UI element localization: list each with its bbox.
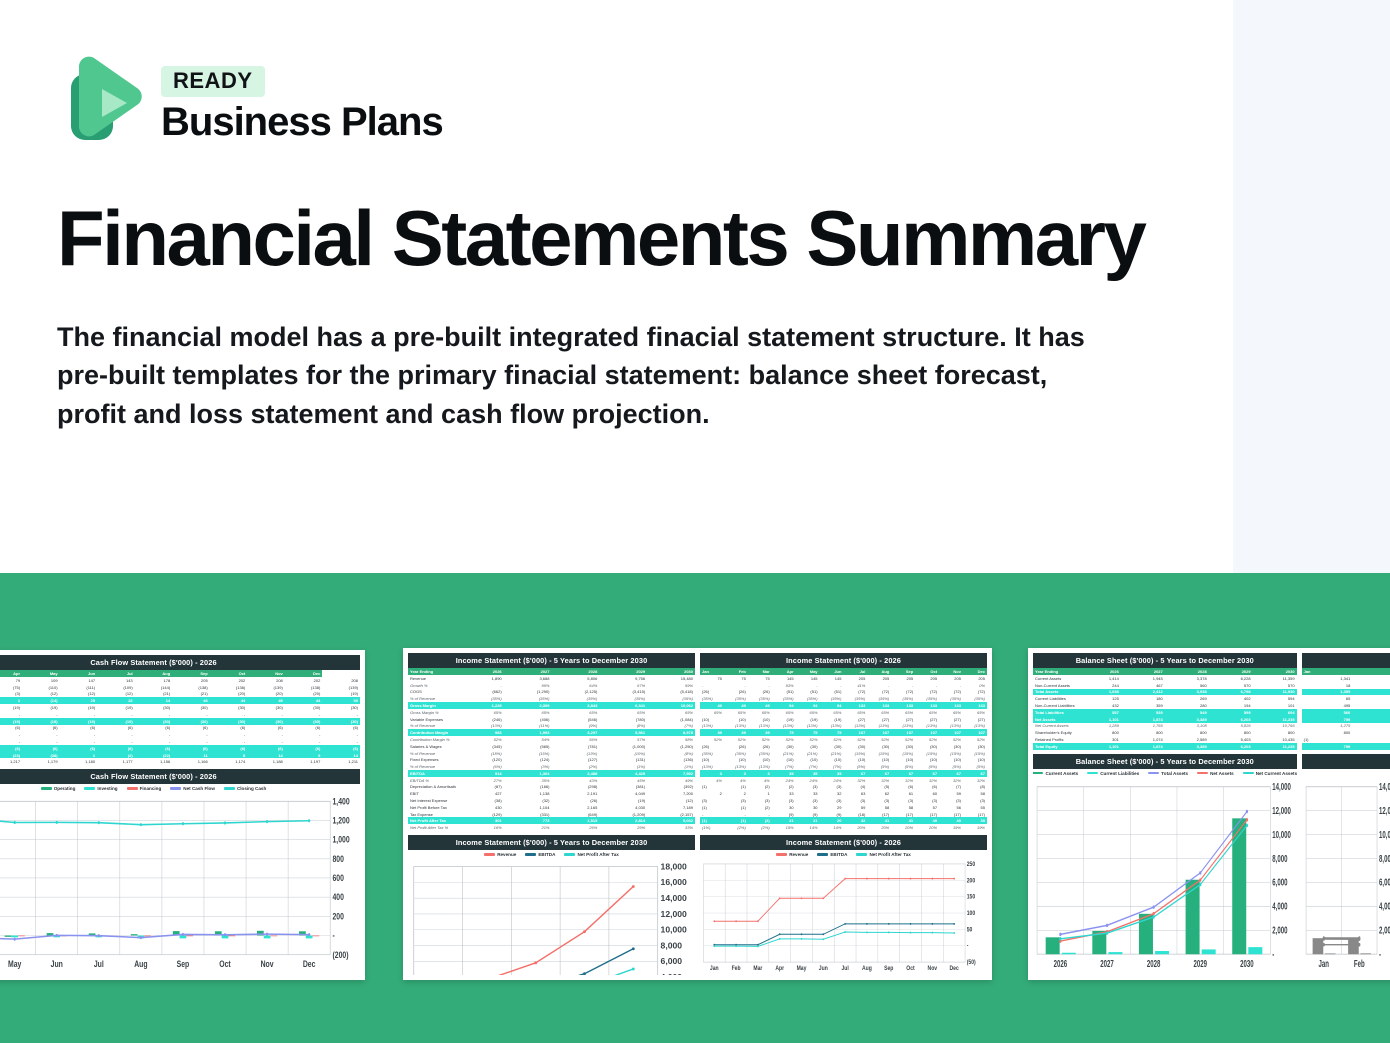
- table-cell: 52%: [820, 736, 844, 743]
- table-cell: (1,084): [647, 716, 695, 723]
- table-row[interactable]: 221333332636261605958: [700, 790, 987, 797]
- table-cell: (3): [748, 797, 772, 804]
- table-row[interactable]: 1,2751,251: [1302, 723, 1390, 730]
- table-cell: Net Interest Expense: [408, 797, 456, 804]
- chart-title: Cash Flow Statement ($'000) - 2026: [0, 769, 360, 784]
- chart-balance-monthly[interactable]: 14,00012,00010,0008,0006,0004,0002,000-J…: [1302, 754, 1390, 975]
- table-cell: (781): [551, 743, 599, 750]
- table-row[interactable]: (10)(10)(10)(19)(19)(19)(27)(27)(27)(27)…: [700, 716, 987, 723]
- table-row[interactable]: Net Profit After Tax %16%21%26%29%33%: [408, 824, 695, 831]
- table-cell: (30): [915, 743, 939, 750]
- table-row[interactable]: Revenue1,8903,6885,8069,75615,480: [408, 675, 695, 682]
- table-row[interactable]: 65%65%65%65%65%65%65%65%65%65%65%65%: [700, 709, 987, 716]
- chart-plot: 14,00012,00010,0008,0006,0004,0002,000-2…: [1033, 777, 1297, 975]
- table-cell: (19): [22, 718, 60, 725]
- chart-plot: 25020015010050-(50)JanFebMarAprMayJunJul…: [700, 858, 987, 975]
- table-cell: (15%): [963, 750, 987, 757]
- chart-income-5yr[interactable]: Income Statement ($'000) - 5 Years to De…: [408, 835, 695, 975]
- table-row[interactable]: Net Profit Before Tax4301,1042,1654,0307…: [408, 804, 695, 811]
- pane-income-5yr: Income Statement ($'000) - 5 Years to De…: [408, 653, 695, 975]
- table-cell: % of Revenue: [408, 695, 456, 702]
- table-row[interactable]: (10)(10)(10)(10)(10)(10)(10)(10)(10)(10)…: [700, 756, 987, 763]
- svg-text:8,000: 8,000: [661, 940, 683, 950]
- table-cell: 32%: [843, 777, 867, 784]
- table-cell: 1,180: [60, 758, 98, 765]
- table-row[interactable]: EBITDA5141,3042,4884,4297,592: [408, 770, 695, 777]
- table-row[interactable]: (1)(1)(2)212120424141404039: [700, 817, 987, 824]
- legend-item: Net Profit After Tax: [564, 852, 618, 857]
- table-row[interactable]: (6)(6)(6)(6)(6)(6)(6)(6)(6)(6): [0, 745, 360, 752]
- table-cell: (6): [247, 745, 285, 752]
- svg-text:Jul: Jul: [94, 959, 104, 969]
- table-cell: -: [210, 731, 248, 738]
- table-cell: -: [0, 711, 22, 718]
- table-row[interactable]: (75)(110)(111)(109)(144)(138)(136)(139)(…: [0, 684, 360, 691]
- chart-legend: OperatingInvestingFinancingNet Cash Flow…: [0, 784, 360, 792]
- table-cell: 75: [820, 729, 844, 736]
- table-cell: 1,874: [1121, 716, 1165, 723]
- table-cell: 694: [1253, 709, 1297, 716]
- table-cell: (10): [820, 756, 844, 763]
- table-cell: Net Assets: [1033, 716, 1077, 723]
- table-cell: 6,798: [1209, 689, 1253, 696]
- table-cell: (5%): [915, 763, 939, 770]
- table-row[interactable]: % of Revenue(35%)(35%)(35%)(35%)(35%): [408, 695, 695, 702]
- table-cell: 35: [772, 770, 796, 777]
- table-cell: (30): [939, 743, 963, 750]
- table-row[interactable]: Salaries & Wages(345)(565)(781)(1,000)(1…: [408, 743, 695, 750]
- table-cell: 94: [820, 702, 844, 709]
- table-cell: 94: [772, 702, 796, 709]
- table-cell: 570: [1209, 682, 1253, 689]
- table-cell: 64%: [551, 682, 599, 689]
- table-row[interactable]: EBIT4271,1382,1914,0497,200: [408, 790, 695, 797]
- table-cell: 14: [247, 752, 285, 759]
- table-row[interactable]: Tax Expense(129)(331)(649)(1,209)(2,157): [408, 811, 695, 818]
- table-cell: -: [891, 682, 915, 689]
- table-cell: 1,174: [210, 758, 248, 765]
- table-cell: (10%): [599, 750, 647, 757]
- table-row[interactable]: 79109147143178205202208202208: [0, 677, 360, 684]
- table-cell: -: [700, 811, 724, 818]
- table-cell: (19): [599, 797, 647, 804]
- table-row[interactable]: Current Liabilities125180269402594: [1033, 695, 1297, 702]
- balance-monthly-table[interactable]: JanFeb1,3411,32318361,3591,3596572495489…: [1302, 668, 1390, 749]
- table-cell: (6): [172, 745, 210, 752]
- legend-item: Operating: [41, 786, 76, 791]
- table-row[interactable]: Gross Margin %65%65%65%65%65%: [408, 709, 695, 716]
- table-cell: (7%): [796, 763, 820, 770]
- column-header: 2026: [1077, 668, 1121, 675]
- table-row[interactable]: (1)(2): [1302, 736, 1390, 743]
- table-row[interactable]: 799798: [1302, 743, 1390, 750]
- table-row[interactable]: Net Current Assets1,2891,7653,1085,82610…: [1033, 723, 1297, 730]
- cashflow-table[interactable]: AprMayJunJulAugSepOctNovDec7910914714317…: [0, 670, 360, 765]
- table-cell: 560: [1165, 682, 1209, 689]
- table-cell: 39: [963, 817, 987, 824]
- table-cell: 65%: [772, 709, 796, 716]
- table-row[interactable]: % of Revenue(13%)(11%)(9%)(8%)(7%): [408, 723, 695, 730]
- table-row[interactable]: 52%52%52%52%52%52%52%52%52%52%52%52%: [700, 736, 987, 743]
- table-cell: -: [285, 711, 323, 718]
- table-row[interactable]: (1%)(2%)(2%)15%14%14%20%20%20%20%19%19%: [700, 824, 987, 831]
- svg-text:4,000: 4,000: [1379, 901, 1390, 912]
- table-cell: 1,188: [247, 758, 285, 765]
- table-cell: 7,200: [647, 790, 695, 797]
- svg-text:Sep: Sep: [177, 959, 190, 969]
- page-description: The financial model has a pre-built inte…: [57, 318, 1087, 433]
- column-header: Feb: [1352, 668, 1390, 675]
- table-row[interactable]: 494949949494133133133133133133: [700, 702, 987, 709]
- svg-text:8,000: 8,000: [1272, 853, 1288, 864]
- table-row[interactable]: (3)(3)(3)(3)(3)(3)(3)(3)(3)(3)(3)(3): [700, 797, 987, 804]
- table-cell: (9): [820, 811, 844, 818]
- table-cell: (1): [724, 804, 748, 811]
- income-monthly-table[interactable]: JanFebMarAprMayJunJulAugSepOctNovDec7575…: [700, 668, 987, 831]
- table-cell: (35%): [551, 695, 599, 702]
- table-cell: (10): [963, 756, 987, 763]
- table-row[interactable]: (35%)(35%)(35%)(35%)(35%)(35%)(35%)(35%)…: [700, 695, 987, 702]
- table-cell: 32%: [963, 777, 987, 784]
- table-row[interactable]: Non-Current Liabilities432359280194101: [1033, 702, 1297, 709]
- table-cell: (1%): [647, 763, 695, 770]
- table-row[interactable]: Depreciation & Amortisation(87)(166)(298…: [408, 784, 695, 791]
- table-cell: Tax Expense: [408, 811, 456, 818]
- table-cell: 62: [867, 790, 891, 797]
- table-cell: 1,304: [504, 770, 552, 777]
- table-cell: 30: [772, 804, 796, 811]
- table-cell: 50: [322, 697, 360, 704]
- column-header: 2028: [551, 668, 599, 675]
- table-cell: 983: [456, 729, 504, 736]
- table-row[interactable]: Contribution Margin %52%54%56%57%58%: [408, 736, 695, 743]
- table-cell: 3,389: [1165, 743, 1209, 750]
- table-row[interactable]: (1)(1)(2)(2)(3)(3)(4)(5)(6)(6)(7)(8): [700, 784, 987, 791]
- table-row[interactable]: 393939757575107107107107107107: [700, 729, 987, 736]
- legend-label: Net Assets: [1210, 771, 1234, 776]
- table-row[interactable]: Retained Profits3011,0742,5895,40310,435: [1033, 736, 1297, 743]
- table-cell: 14%: [820, 824, 844, 831]
- legend-label: Net Current Assets: [1256, 771, 1297, 776]
- table-cell: 202: [210, 677, 248, 684]
- table-row[interactable]: EBITDA %27%35%43%45%49%: [408, 777, 695, 784]
- table-cell: (109): [97, 684, 135, 691]
- table-cell: (27): [915, 716, 939, 723]
- table-row[interactable]: 560561: [1302, 709, 1390, 716]
- table-row[interactable]: 1(14)2522144644494450: [0, 697, 360, 704]
- table-cell: 52%: [456, 736, 504, 743]
- sheet-balance-5yr: Balance Sheet ($'000) - 5 Years to Decem…: [1033, 653, 1297, 750]
- table-row[interactable]: (19)(19)(19)(19)(30)(30)(30)(30)(30)(30): [0, 704, 360, 711]
- table-row[interactable]: Total Liabilities557539549595694: [1033, 709, 1297, 716]
- table-cell: 205: [891, 675, 915, 682]
- table-cell: 59: [843, 804, 867, 811]
- table-cell: (15%): [504, 750, 552, 757]
- svg-text:6,000: 6,000: [1379, 877, 1390, 888]
- legend-item: Current Assets: [1033, 771, 1078, 776]
- table-row[interactable]: Total Assets1,6582,4123,9386,79811,930: [1033, 689, 1297, 696]
- table-cell: (2): [97, 752, 135, 759]
- table-cell: (6): [210, 745, 248, 752]
- legend-swatch: [84, 787, 95, 790]
- table-cell: Salaries & Wages: [408, 743, 456, 750]
- table-cell: 63: [843, 790, 867, 797]
- table-row[interactable]: 333353535676767676767: [700, 770, 987, 777]
- table-row[interactable]: 6572: [1302, 695, 1390, 702]
- chart-title: Income Statement ($'000) - 2026: [700, 835, 987, 850]
- table-row[interactable]: 4%4%4%24%24%24%32%32%32%32%32%32%: [700, 777, 987, 784]
- table-cell: 56%: [551, 736, 599, 743]
- table-cell: 52%: [915, 736, 939, 743]
- table-cell: (30): [322, 704, 360, 711]
- column-header: Feb: [724, 668, 748, 675]
- legend-item: Investing: [84, 786, 117, 791]
- table-cell: 2: [724, 790, 748, 797]
- table-cell: 430: [456, 804, 504, 811]
- table-cell: Net Profit After Tax %: [408, 824, 456, 831]
- table-cell: (3): [820, 784, 844, 791]
- legend-swatch: [1148, 772, 1159, 775]
- table-cell: 3,938: [1165, 689, 1209, 696]
- legend-item: Net Current Assets: [1243, 771, 1297, 776]
- table-row[interactable]: Shareholder's Equity800800800800800: [1033, 729, 1297, 736]
- table-cell: (19): [796, 716, 820, 723]
- table-cell: 52%: [939, 736, 963, 743]
- table-cell: 65: [1302, 695, 1353, 702]
- table-cell: (1): [724, 784, 748, 791]
- table-row[interactable]: (1)(1)(2)303029595858575655: [700, 804, 987, 811]
- screenshot-card-balance[interactable]: Balance Sheet ($'000) - 5 Years to Decem…: [1028, 648, 1390, 980]
- table-cell: 52%: [891, 736, 915, 743]
- table-cell: 539: [1121, 709, 1165, 716]
- svg-text:Oct: Oct: [219, 959, 231, 969]
- table-row[interactable]: COGS(662)(1,290)(2,125)(3,415)(5,418): [408, 689, 695, 696]
- table-row[interactable]: (26)(26)(26)(51)(51)(51)(72)(72)(72)(72)…: [700, 689, 987, 696]
- table-cell: (6): [891, 784, 915, 791]
- sheet-balance-monthly: JanFeb1,3411,32318361,3591,3596572495489…: [1302, 653, 1390, 750]
- table-row[interactable]: ----------: [0, 738, 360, 745]
- table-cell: (13%): [867, 723, 891, 730]
- income-5yr-table[interactable]: Year Ending20262027202820292030Revenue1,…: [408, 668, 695, 831]
- table-cell: -: [210, 738, 248, 745]
- table-cell: 67: [867, 770, 891, 777]
- table-cell: -: [867, 682, 891, 689]
- table-cell: (35%): [748, 695, 772, 702]
- table-cell: 244: [1077, 682, 1121, 689]
- table-row[interactable]: Growth %-95%64%67%59%: [408, 682, 695, 689]
- table-cell: (3): [724, 797, 748, 804]
- sheet-cashflow: Cash Flow Statement ($'000) - 2026 AprMa…: [0, 655, 360, 765]
- chart-title: [1302, 754, 1390, 769]
- table-row[interactable]: ----------: [0, 731, 360, 738]
- table-cell: (3,415): [599, 689, 647, 696]
- table-cell: 514: [456, 770, 504, 777]
- table-row[interactable]: Total Equity1,1011,8743,3896,20311,235: [1033, 743, 1297, 750]
- svg-text:250: 250: [967, 862, 975, 868]
- table-row[interactable]: (3)(12)(12)(12)(21)(21)(20)(20)(20)(19): [0, 691, 360, 698]
- table-cell: Contribution Margin: [408, 729, 456, 736]
- table-cell: 133: [963, 702, 987, 709]
- table-cell: 800: [1352, 729, 1390, 736]
- table-cell: 30: [796, 804, 820, 811]
- chart-income-monthly[interactable]: Income Statement ($'000) - 2026 RevenueE…: [700, 835, 987, 975]
- table-cell: 2,412: [1121, 689, 1165, 696]
- table-cell: (10): [724, 716, 748, 723]
- table-cell: (19): [97, 704, 135, 711]
- legend-label: Current Liabilities: [1100, 771, 1139, 776]
- table-cell: (30): [867, 743, 891, 750]
- table-row[interactable]: Non-Current Assets244467560570570: [1033, 682, 1297, 689]
- table-cell: (35%): [724, 695, 748, 702]
- table-cell: (13%): [843, 723, 867, 730]
- table-cell: 49: [700, 702, 724, 709]
- table-cell: (17): [891, 811, 915, 818]
- table-row[interactable]: (19)(19)(19)(19)(30)(30)(30)(30)(30)(30): [0, 718, 360, 725]
- table-cell: (35%): [820, 695, 844, 702]
- table-cell: (15%): [843, 750, 867, 757]
- column-header: Dec: [963, 668, 987, 675]
- table-row[interactable]: 800800: [1302, 729, 1390, 736]
- table-cell: -: [135, 731, 173, 738]
- table-cell: (6): [22, 745, 60, 752]
- table-cell: (780): [599, 716, 647, 723]
- table-cell: 46: [172, 697, 210, 704]
- pane-cashflow: Cash Flow Statement ($'000) - 2026 AprMa…: [0, 655, 360, 975]
- table-cell: 24%: [796, 777, 820, 784]
- table-cell: (72): [963, 689, 987, 696]
- table-cell: (120): [456, 756, 504, 763]
- table-cell: -: [796, 682, 820, 689]
- table-cell: (27): [843, 716, 867, 723]
- table-cell: 1,177: [97, 758, 135, 765]
- table-cell: 1: [748, 790, 772, 797]
- screenshot-card-cashflow[interactable]: Cash Flow Statement ($'000) - 2026 AprMa…: [0, 650, 365, 980]
- table-cell: 95%: [504, 682, 552, 689]
- table-cell: (5%): [939, 763, 963, 770]
- table-cell: 65%: [963, 709, 987, 716]
- table-cell: 16%: [456, 824, 504, 831]
- table-row[interactable]: 1,3411,323: [1302, 675, 1390, 682]
- table-cell: 1,359: [1302, 689, 1353, 696]
- table-row[interactable]: ----------: [0, 711, 360, 718]
- table-cell: -: [172, 731, 210, 738]
- table-cell: (2%): [724, 824, 748, 831]
- table-cell: (15%): [939, 750, 963, 757]
- table-row[interactable]: (23)(38)1(2)(22)11814914: [0, 752, 360, 759]
- table-row[interactable]: Net Interest Expense(38)(32)(26)(19)(12): [408, 797, 695, 804]
- table-row[interactable]: 757575145145145205205205205205205: [700, 675, 987, 682]
- legend-item: Total Assets: [1148, 771, 1188, 776]
- table-row[interactable]: ---(9)(9)(9)(18)(17)(17)(17)(17)(17): [700, 811, 987, 818]
- table-row[interactable]: % of Revenue(18%)(15%)(13%)(10%)(8%): [408, 750, 695, 757]
- table-cell: 427: [456, 790, 504, 797]
- chart-balance-5yr[interactable]: Balance Sheet ($'000) - 5 Years to Decem…: [1033, 754, 1297, 975]
- table-row[interactable]: (6)(6)(6)(6)(6)(6)(6)(6)(6)(6): [0, 725, 360, 732]
- table-row[interactable]: Net Profit After Tax3017731,5152,8145,03…: [408, 817, 695, 824]
- table-cell: 205: [915, 675, 939, 682]
- table-cell: -: [135, 738, 173, 745]
- pane-income-monthly: Income Statement ($'000) - 2026 JanFebMa…: [700, 653, 987, 975]
- table-cell: Total Equity: [1033, 743, 1077, 750]
- table-cell: (9%): [551, 723, 599, 730]
- table-cell: -: [456, 682, 504, 689]
- svg-text:4,000: 4,000: [661, 972, 683, 975]
- balance-5yr-table[interactable]: Year Ending20262027202820292030Current A…: [1033, 668, 1297, 749]
- table-cell: (10): [700, 716, 724, 723]
- table-row[interactable]: Contribution Margin9831,9933,2975,5618,9…: [408, 729, 695, 736]
- table-cell: EBITDA: [408, 770, 456, 777]
- table-cell: 269: [1165, 695, 1209, 702]
- table-row[interactable]: (35%)(35%)(35%)(21%)(21%)(21%)(15%)(15%)…: [700, 750, 987, 757]
- table-cell: (111): [60, 684, 98, 691]
- table-cell: (110): [22, 684, 60, 691]
- column-header: 2027: [1121, 668, 1165, 675]
- table-row[interactable]: Fixed Expenses(120)(124)(127)(131)(136): [408, 756, 695, 763]
- table-cell: 29%: [599, 824, 647, 831]
- table-cell: 61: [891, 790, 915, 797]
- table-row[interactable]: 1,2171,1791,1801,1771,1561,1661,1741,188…: [0, 758, 360, 765]
- table-row[interactable]: Current Assets1,4141,9453,3786,22811,359: [1033, 675, 1297, 682]
- table-cell: (6): [915, 784, 939, 791]
- sheet-title: Balance Sheet ($'000) - 5 Years to Decem…: [1033, 653, 1297, 668]
- table-cell: (27): [867, 716, 891, 723]
- table-row[interactable]: 495489: [1302, 702, 1390, 709]
- table-cell: 21: [796, 817, 820, 824]
- table-cell: (6): [0, 745, 22, 752]
- table-cell: (13%): [456, 723, 504, 730]
- table-cell: -: [210, 711, 248, 718]
- table-row[interactable]: (13%)(13%)(13%)(13%)(13%)(13%)(13%)(13%)…: [700, 723, 987, 730]
- table-cell: (10): [867, 756, 891, 763]
- table-row[interactable]: % of Revenue(6%)(3%)(2%)(1%)(1%): [408, 763, 695, 770]
- svg-text:Jan: Jan: [1318, 958, 1328, 969]
- table-cell: (649): [551, 811, 599, 818]
- table-row[interactable]: (13%)(13%)(13%)(7%)(7%)(7%)(5%)(5%)(5%)(…: [700, 763, 987, 770]
- legend-item: Revenue: [484, 852, 516, 857]
- table-row[interactable]: 799798: [1302, 716, 1390, 723]
- table-cell: (13%): [724, 723, 748, 730]
- table-cell: -: [0, 731, 22, 738]
- table-cell: 39: [748, 729, 772, 736]
- table-row[interactable]: Gross Margin1,2292,3993,8436,34110,062: [408, 702, 695, 709]
- table-row[interactable]: 1,3591,359: [1302, 689, 1390, 696]
- table-cell: (144): [135, 684, 173, 691]
- svg-text:-: -: [1272, 949, 1274, 960]
- table-cell: (5): [867, 784, 891, 791]
- screenshot-card-income[interactable]: Income Statement ($'000) - 5 Years to De…: [403, 648, 992, 980]
- table-cell: (35%): [647, 695, 695, 702]
- column-header: May: [796, 668, 820, 675]
- table-cell: 3,108: [1165, 723, 1209, 730]
- table-cell: 14: [135, 697, 173, 704]
- table-cell: 107: [867, 729, 891, 736]
- table-row[interactable]: ---93%--41%----0%: [700, 682, 987, 689]
- table-row[interactable]: Net Assets1,1011,8743,3896,20311,235: [1033, 716, 1297, 723]
- table-cell: 4%: [748, 777, 772, 784]
- legend-item: Net Cash Flow: [170, 786, 215, 791]
- table-cell: (51): [796, 689, 820, 696]
- table-cell: (35%): [700, 750, 724, 757]
- chart-cashflow[interactable]: Cash Flow Statement ($'000) - 2026 Opera…: [0, 769, 360, 975]
- table-row[interactable]: 1836: [1302, 682, 1390, 689]
- table-cell: (1): [700, 804, 724, 811]
- table-row[interactable]: Variable Expenses(246)(406)(546)(780)(1,…: [408, 716, 695, 723]
- table-cell: 800: [1253, 729, 1297, 736]
- table-cell: 41: [891, 817, 915, 824]
- table-cell: 14%: [796, 824, 820, 831]
- table-row[interactable]: (26)(26)(26)(30)(30)(30)(30)(30)(30)(30)…: [700, 743, 987, 750]
- table-cell: 107: [891, 729, 915, 736]
